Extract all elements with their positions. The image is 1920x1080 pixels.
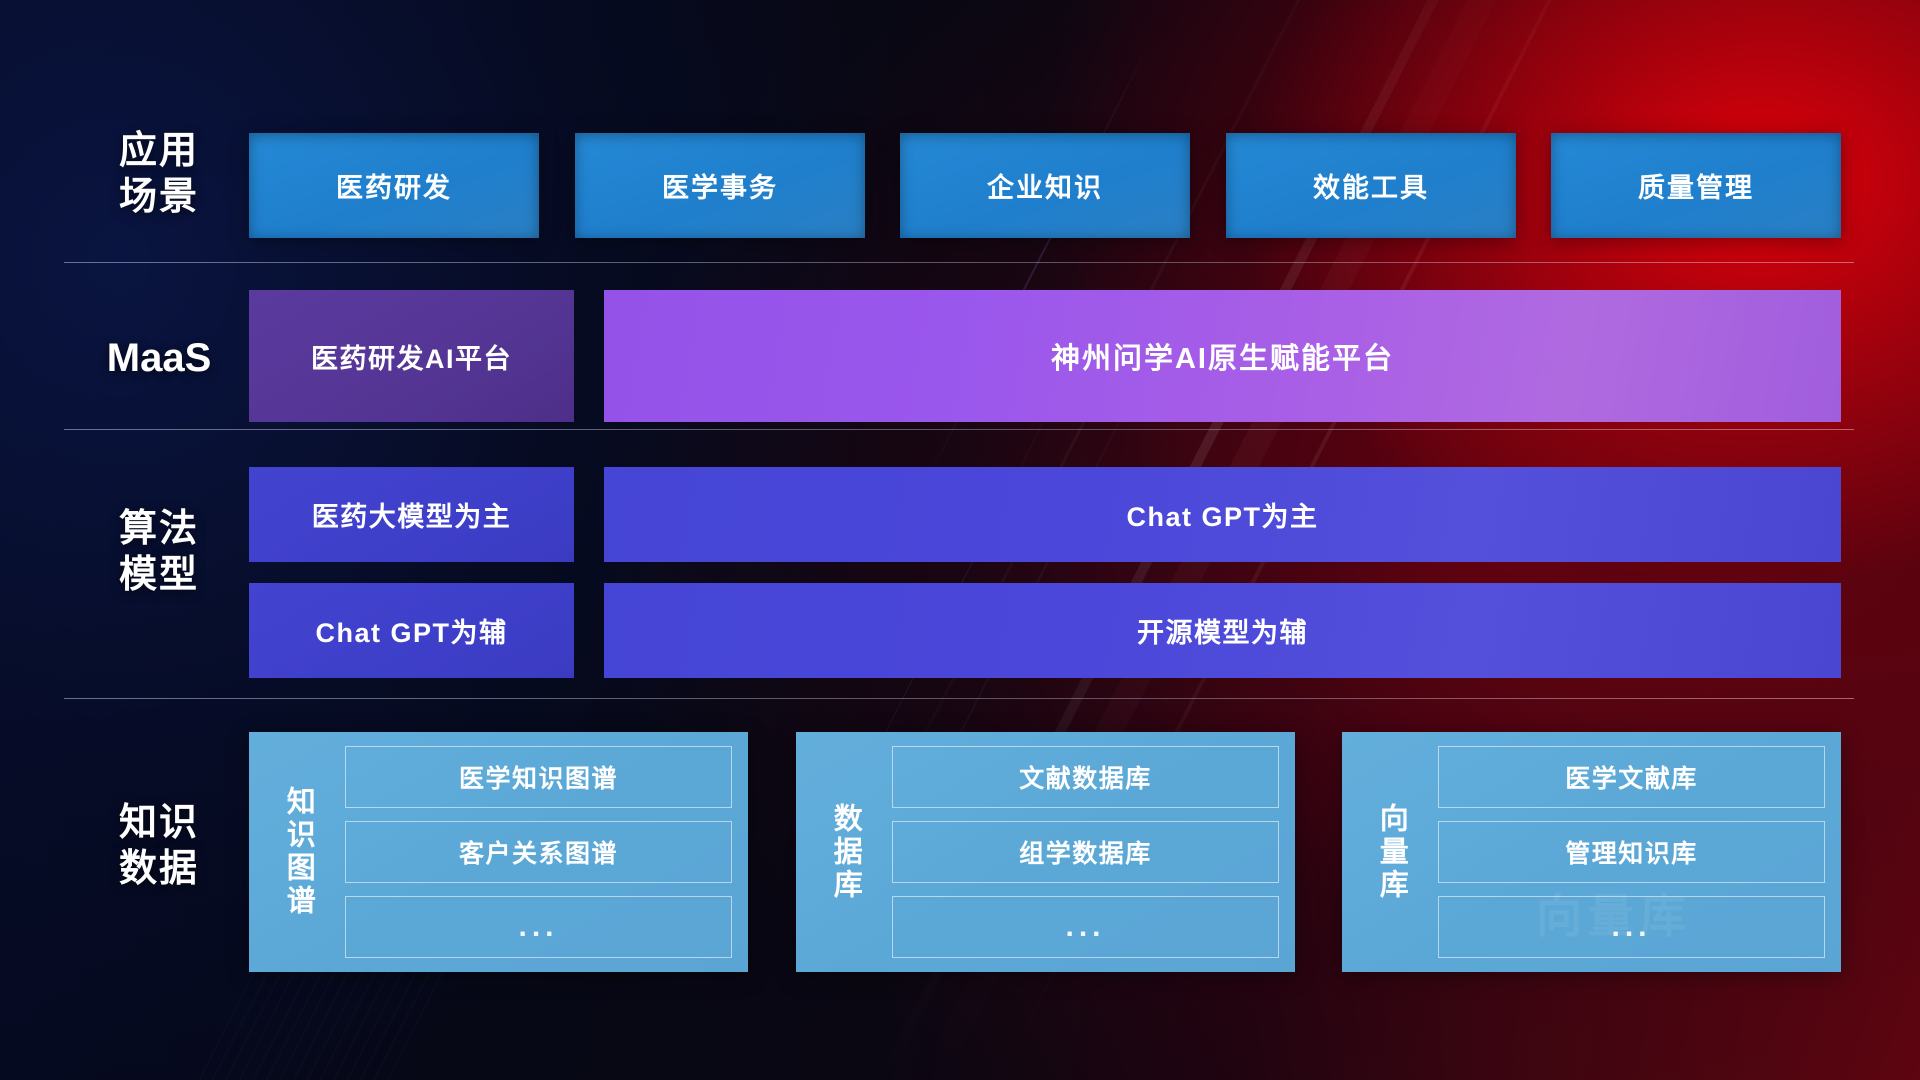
algorithm-box-r1-right[interactable]: Chat GPT为主 — [604, 467, 1841, 562]
app-scenario-box-2[interactable]: 医学事务 — [575, 133, 865, 238]
knowledge-item-1-2[interactable]: 客户关系图谱 — [345, 821, 732, 883]
row-label-application-line2: 场景 — [64, 174, 254, 220]
knowledge-block-2[interactable]: 数据库 文献数据库 组学数据库 ... — [796, 732, 1295, 972]
app-scenario-label-3: 企业知识 — [987, 166, 1103, 205]
row-label-algorithm-line1: 算法 — [64, 506, 254, 552]
knowledge-item-1-1[interactable]: 医学知识图谱 — [345, 746, 732, 808]
algorithm-label-r1-left: 医药大模型为主 — [312, 495, 512, 534]
algorithm-box-r2-right[interactable]: 开源模型为辅 — [604, 583, 1841, 678]
app-scenario-box-3[interactable]: 企业知识 — [900, 133, 1190, 238]
knowledge-item-1-3[interactable]: ... — [345, 896, 732, 958]
app-scenario-label-5: 质量管理 — [1638, 166, 1754, 205]
row-label-application: 应用 场景 — [64, 128, 254, 221]
maas-right-label: 神州问学AI原生赋能平台 — [1051, 335, 1394, 377]
divider-application-maas — [64, 262, 1854, 263]
app-scenario-label-1: 医药研发 — [336, 166, 452, 205]
app-scenario-box-4[interactable]: 效能工具 — [1226, 133, 1516, 238]
algorithm-label-r2-left: Chat GPT为辅 — [315, 611, 507, 650]
app-scenario-label-4: 效能工具 — [1313, 166, 1429, 205]
app-scenario-box-1[interactable]: 医药研发 — [249, 133, 539, 238]
row-label-maas: MaaS — [64, 334, 254, 383]
knowledge-item-3-3[interactable]: ... — [1438, 896, 1825, 958]
knowledge-item-2-3[interactable]: ... — [892, 896, 1279, 958]
row-label-maas-text: MaaS — [64, 334, 254, 383]
row-label-application-line1: 应用 — [64, 128, 254, 174]
divider-maas-algorithm — [64, 429, 1854, 430]
maas-left-label: 医药研发AI平台 — [311, 337, 512, 376]
knowledge-item-3-1[interactable]: 医学文献库 — [1438, 746, 1825, 808]
knowledge-item-2-1[interactable]: 文献数据库 — [892, 746, 1279, 808]
maas-left-box[interactable]: 医药研发AI平台 — [249, 290, 574, 422]
algorithm-label-r1-right: Chat GPT为主 — [1126, 495, 1318, 534]
algorithm-box-r2-left[interactable]: Chat GPT为辅 — [249, 583, 574, 678]
divider-algorithm-knowledge — [64, 698, 1854, 699]
knowledge-item-2-2[interactable]: 组学数据库 — [892, 821, 1279, 883]
row-label-algorithm-line2: 模型 — [64, 552, 254, 598]
app-scenario-box-5[interactable]: 质量管理 — [1551, 133, 1841, 238]
knowledge-block-1-title: 知识图谱 — [265, 746, 331, 958]
row-label-algorithm: 算法 模型 — [64, 506, 254, 599]
diagram-canvas: 应用 场景 医药研发 医学事务 企业知识 效能工具 质量管理 MaaS 医药研发… — [0, 0, 1920, 1080]
row-label-knowledge-line1: 知识 — [64, 800, 254, 846]
app-scenario-label-2: 医学事务 — [662, 166, 778, 205]
knowledge-block-2-title: 数据库 — [812, 746, 878, 958]
algorithm-box-r1-left[interactable]: 医药大模型为主 — [249, 467, 574, 562]
knowledge-block-1[interactable]: 知识图谱 医学知识图谱 客户关系图谱 ... — [249, 732, 748, 972]
row-label-knowledge-line2: 数据 — [64, 846, 254, 892]
knowledge-block-3[interactable]: 向量库 医学文献库 管理知识库 ... — [1342, 732, 1841, 972]
algorithm-label-r2-right: 开源模型为辅 — [1137, 611, 1308, 650]
knowledge-block-3-title: 向量库 — [1358, 746, 1424, 958]
maas-right-box[interactable]: 神州问学AI原生赋能平台 — [604, 290, 1841, 422]
knowledge-item-3-2[interactable]: 管理知识库 — [1438, 821, 1825, 883]
row-label-knowledge: 知识 数据 — [64, 800, 254, 893]
